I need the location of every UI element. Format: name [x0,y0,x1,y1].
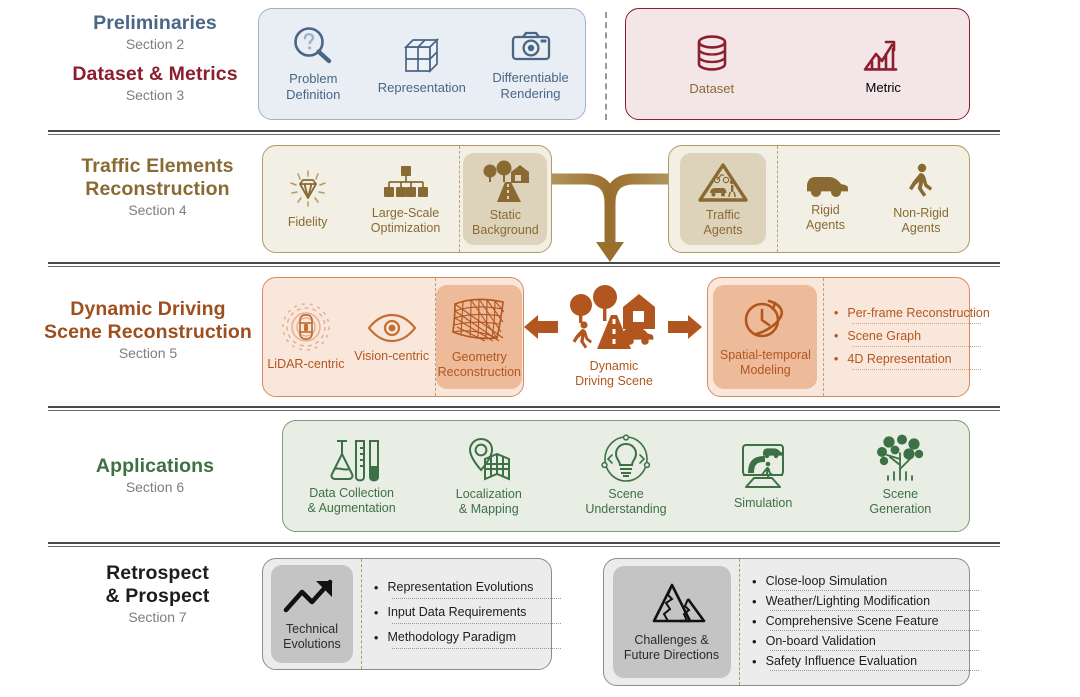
list-item[interactable]: • Per-frame Reconstruction [834,305,963,321]
tree-hierarchy-icon [379,162,433,202]
cell-technical-evolutions[interactable]: TechnicalEvolutions [271,565,353,663]
dynamic-scene-icon [561,285,667,357]
cell-geometry-wrap: GeometryReconstruction [435,278,523,396]
voxel-cube-icon [398,32,446,76]
cell-caption: SceneGeneration [869,487,931,517]
cell-caption: Metric [866,80,901,96]
list-item-label: Per-frame Reconstruction [847,306,989,320]
cell-scene-generation[interactable]: SceneGeneration [832,421,969,531]
row-label-dataset-metrics: Dataset & Metrics Section 3 [40,63,270,104]
cell-technical-evolutions-wrap: TechnicalEvolutions [263,559,361,669]
bullet-underline [770,670,979,671]
bullet-dot: • [834,306,839,319]
bullet-underline [392,598,561,599]
list-item[interactable]: • Weather/Lighting Modification [752,593,961,609]
row-section: Section 3 [40,87,270,104]
arrow-right-to-spatial-temporal [668,315,702,343]
list-item-label: Methodology Paradigm [387,630,516,644]
bullet-underline [852,323,981,324]
bullet-dot: • [752,575,757,588]
taxonomy-diagram: Preliminaries Section 2 Dataset & Metric… [0,0,1080,697]
list-item-label: Weather/Lighting Modification [766,594,930,608]
center-caption: DynamicDriving Scene [575,359,653,389]
mesh-grid-icon [447,294,511,346]
cell-caption: Large-ScaleOptimization [371,206,440,236]
database-icon [691,31,733,77]
cell-caption: Spatial-temporalModeling [720,348,811,378]
bullet-dot: • [834,352,839,365]
list-item[interactable]: • Comprehensive Scene Feature [752,613,961,629]
row-label-dynamic-scene: Dynamic DrivingScene Reconstruction Sect… [28,298,268,362]
panel-static-elements[interactable]: Fidelity [262,145,552,253]
panel-challenges-future[interactable]: Challenges &Future Directions • Close-lo… [603,558,970,686]
cell-challenges-future-directions[interactable]: Challenges &Future Directions [613,566,731,678]
cell-large-scale-optimization[interactable]: Large-ScaleOptimization [352,146,459,252]
panel-traffic-agents[interactable]: TrafficAgents RigidAgents [668,145,970,253]
panel-applications[interactable]: Data Collection& Augmentation Localizati… [282,420,970,532]
bullet-underline [770,650,979,651]
cell-spatial-temporal-wrap: Spatial-temporalModeling [708,278,823,396]
bullet-underline [770,590,979,591]
trees-house-road-icon [477,160,533,204]
row-label-applications: Applications Section 6 [60,455,250,496]
bullet-underline [852,369,981,370]
row-title: Applications [60,455,250,478]
row-section: Section 5 [28,345,268,362]
cell-lidar-centric[interactable]: LiDAR-centric [263,278,349,396]
list-item[interactable]: • Methodology Paradigm [374,629,543,645]
cell-caption: Challenges &Future Directions [624,633,719,663]
row-section: Section 7 [65,609,250,626]
list-item-label: Comprehensive Scene Feature [766,614,939,628]
camera-icon [507,26,555,66]
spatial-temporal-bullets-wrap: • Per-frame Reconstruction • Scene Graph… [823,278,969,396]
cell-static-background[interactable]: StaticBackground [463,153,547,245]
cell-caption: Simulation [734,496,792,511]
row-title: Preliminaries [60,12,250,35]
bullet-dot: • [752,595,757,608]
bullet-dot: • [752,655,757,668]
cell-localization-mapping[interactable]: Localization& Mapping [420,421,557,531]
bullet-dot: • [752,635,757,648]
cell-caption: Non-RigidAgents [893,206,949,236]
row-divider-1 [48,130,1000,135]
magnifier-question-icon [290,25,336,67]
mountain-icon [636,581,708,629]
list-item-label: On-board Validation [766,634,876,648]
cell-caption: TechnicalEvolutions [283,622,341,652]
list-item-label: Input Data Requirements [387,605,526,619]
vertical-dashed-separator [605,12,607,120]
list-item[interactable]: • 4D Representation [834,351,963,367]
cell-caption: Representation [378,80,466,96]
bullet-list-technical-evolutions: • Representation Evolutions • Input Data… [362,559,551,669]
row-label-retrospect: Retrospect& Prospect Section 7 [65,562,250,626]
bullet-dot: • [752,615,757,628]
bullet-dot: • [374,631,379,644]
lidar-car-icon [278,303,334,353]
cell-simulation[interactable]: Simulation [695,421,832,531]
cell-traffic-agents-wrap: TrafficAgents [669,146,777,252]
cell-dataset[interactable]: Dataset [626,9,798,119]
arrow-left-to-geometry [524,315,558,343]
bar-chart-arrow-icon [860,32,906,76]
list-item-label: Scene Graph [847,329,921,343]
cell-traffic-agents[interactable]: TrafficAgents [680,153,766,245]
panel-technical-evolutions[interactable]: TechnicalEvolutions • Representation Evo… [262,558,552,670]
cell-static-background-wrap: StaticBackground [459,146,551,252]
cell-caption: SceneUnderstanding [585,487,666,517]
cell-fidelity[interactable]: Fidelity [263,146,352,252]
cell-scene-understanding[interactable]: SceneUnderstanding [557,421,694,531]
map-pin-icon [461,435,517,483]
row-title: Traffic ElementsReconstruction [50,155,265,201]
row-title: Dynamic DrivingScene Reconstruction [28,298,268,344]
flask-testtube-icon [323,436,381,482]
list-item[interactable]: • Representation Evolutions [374,579,543,595]
cell-geometry-reconstruction[interactable]: GeometryReconstruction [436,285,522,389]
row-divider-4 [48,542,1000,547]
bullet-underline [852,346,981,347]
row-section: Section 2 [60,36,250,53]
row-divider-3 [48,406,1000,411]
list-item-label: Close-loop Simulation [766,574,888,588]
cell-problem-definition[interactable]: ProblemDefinition [259,9,368,119]
bullet-list-challenges: • Close-loop Simulation • Weather/Lighti… [740,559,969,685]
cell-vision-centric[interactable]: Vision-centric [349,278,435,396]
row-section: Section 6 [60,479,250,496]
list-item-label: 4D Representation [847,352,951,366]
bullet-underline [392,623,561,624]
bullet-underline [392,648,561,649]
cell-caption: Vision-centric [354,349,429,364]
car-icon [801,165,851,199]
list-item[interactable]: • Safety Influence Evaluation [752,653,961,669]
warning-triangle-traffic-icon [695,160,751,204]
cell-differentiable-rendering[interactable]: DifferentiableRendering [476,9,585,119]
bullet-dot: • [834,329,839,342]
panel-spatial-temporal[interactable]: Spatial-temporalModeling • Per-frame Rec… [707,277,970,397]
list-item[interactable]: • Input Data Requirements [374,604,543,620]
cell-caption: Fidelity [288,215,328,230]
list-item[interactable]: • Scene Graph [834,328,963,344]
cell-challenges-wrap: Challenges &Future Directions [604,559,739,685]
cell-caption: GeometryReconstruction [438,350,521,380]
panel-geometry[interactable]: LiDAR-centric Vision-centric [262,277,524,397]
row-title: Dataset & Metrics [40,63,270,86]
list-item-label: Safety Influence Evaluation [766,654,918,668]
challenges-bullets-wrap: • Close-loop Simulation • Weather/Lighti… [739,559,969,685]
cell-caption: RigidAgents [806,203,845,233]
row-section: Section 4 [50,202,265,219]
list-item[interactable]: • On-board Validation [752,633,961,649]
cell-caption: Dataset [689,81,734,97]
cell-data-collection[interactable]: Data Collection& Augmentation [283,421,420,531]
cell-caption: DifferentiableRendering [492,70,568,101]
cell-non-rigid-agents[interactable]: Non-RigidAgents [873,146,969,252]
eye-icon [365,311,419,345]
bullet-dot: • [374,606,379,619]
bullet-underline [770,630,979,631]
cell-caption: StaticBackground [472,208,539,238]
cell-caption: Data Collection& Augmentation [307,486,395,516]
bullet-dot: • [374,581,379,594]
cell-caption: ProblemDefinition [286,71,340,102]
cell-rigid-agents[interactable]: RigidAgents [777,146,873,252]
row-divider-2 [48,262,1000,267]
clock-orbit-icon [737,296,793,344]
panel-dataset-metrics[interactable]: Dataset Metri [625,8,970,120]
lightbulb-icon [599,435,653,483]
diamond-sparkle-icon [286,169,330,211]
cell-representation[interactable]: Representation [368,9,477,119]
list-item[interactable]: • Close-loop Simulation [752,573,961,589]
bullet-underline [770,610,979,611]
monitor-road-icon [734,442,792,492]
row-title: Retrospect& Prospect [65,562,250,608]
list-item-label: Representation Evolutions [387,580,533,594]
row-label-preliminaries: Preliminaries Section 2 [60,12,250,53]
cell-caption: TrafficAgents [704,208,743,238]
panel-preliminaries[interactable]: ProblemDefinition Representation [258,8,586,120]
pedestrian-icon [904,162,938,202]
cell-spatial-temporal-modeling[interactable]: Spatial-temporalModeling [713,285,817,389]
cell-caption: LiDAR-centric [267,357,344,372]
cell-metric[interactable]: Metric [798,9,970,119]
trend-arrow-icon [282,576,342,618]
cell-caption: Localization& Mapping [456,487,522,517]
center-dynamic-driving-scene: DynamicDriving Scene [558,277,670,397]
tree-circuit-icon [872,435,928,483]
bullet-list-spatial-temporal: • Per-frame Reconstruction • Scene Graph… [824,278,969,396]
row-label-traffic-elements: Traffic ElementsReconstruction Section 4 [50,155,265,219]
technical-evolutions-bullets-wrap: • Representation Evolutions • Input Data… [361,559,551,669]
